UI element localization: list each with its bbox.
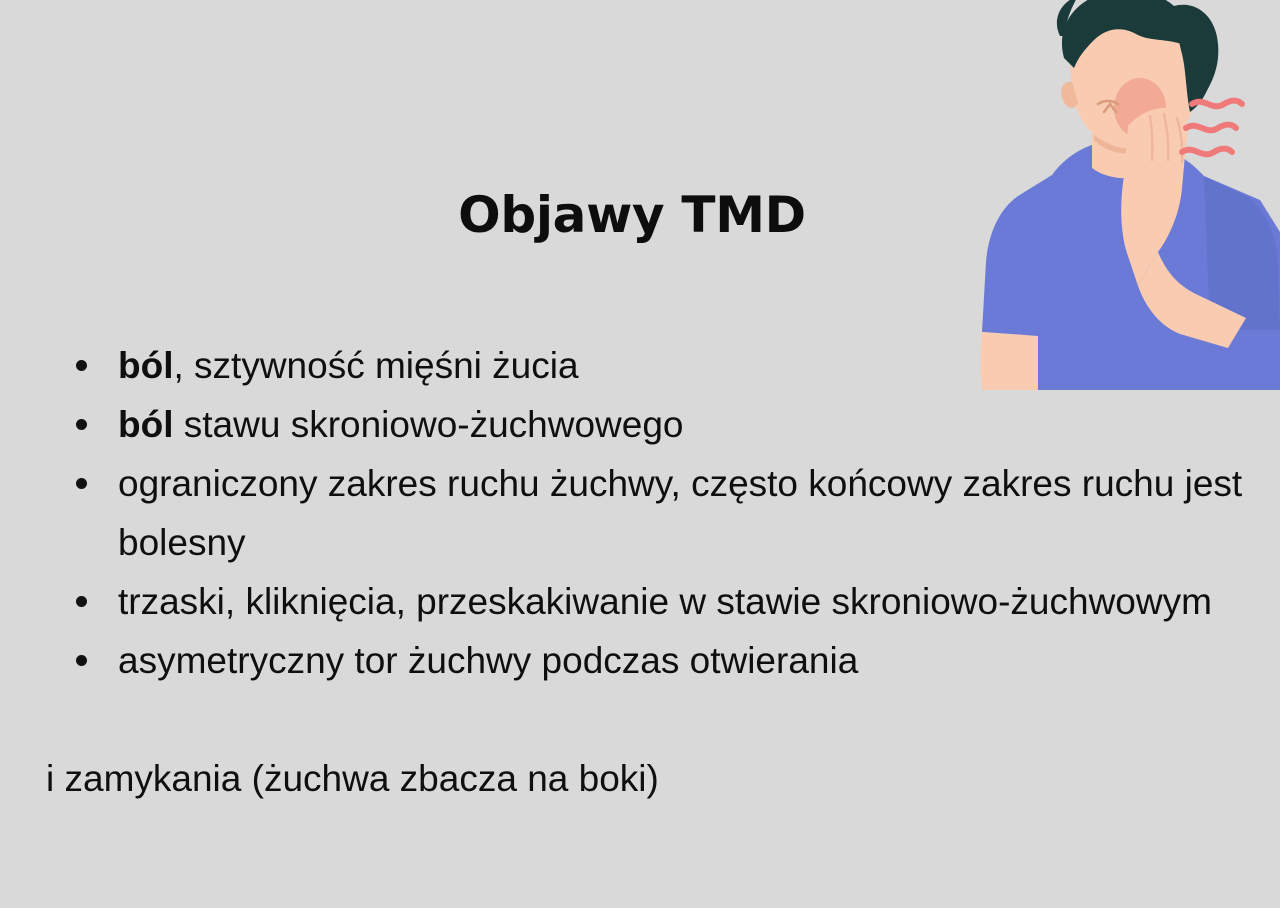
neck-shape <box>1092 112 1160 178</box>
list-item-rest: asymetryczny tor żuchwy podczas otwieran… <box>118 640 858 681</box>
bullet-dot-icon <box>76 360 87 371</box>
list-item-text: trzaski, kliknięcia, przeskakiwanie w st… <box>118 572 1266 631</box>
slide-canvas: Objawy TMD ból, sztywność mięśni żucia b… <box>0 0 1280 908</box>
list-item: ból stawu skroniowo-żuchwowego <box>46 395 1266 454</box>
list-item-rest: trzaski, kliknięcia, przeskakiwanie w st… <box>118 581 1212 622</box>
list-item-text: asymetryczny tor żuchwy podczas otwieran… <box>118 631 1266 690</box>
list-item-rest: , sztywność mięśni żucia <box>173 345 578 386</box>
list-item-text: ograniczony zakres ruchu żuchwy, często … <box>118 454 1266 572</box>
symptom-list: ból, sztywność mięśni żucia ból stawu sk… <box>46 336 1266 690</box>
list-item: asymetryczny tor żuchwy podczas otwieran… <box>46 631 1266 690</box>
bullet-dot-icon <box>76 419 87 430</box>
list-item-rest: stawu skroniowo-żuchwowego <box>173 404 683 445</box>
closed-eye <box>1098 101 1118 112</box>
head-shape <box>1061 0 1200 149</box>
list-item-emphasis: ból <box>118 345 173 386</box>
page-title: Objawy TMD <box>0 186 1264 244</box>
list-item: ból, sztywność mięśni żucia <box>46 336 1266 395</box>
list-item: ograniczony zakres ruchu żuchwy, często … <box>46 454 1266 572</box>
bullet-dot-icon <box>76 655 87 666</box>
pain-squiggle-icon <box>1182 101 1242 155</box>
bullet-dot-icon <box>76 596 87 607</box>
cheek-pain-patch <box>1114 78 1166 138</box>
list-item-emphasis: ból <box>118 404 173 445</box>
list-item-rest: ograniczony zakres ruchu żuchwy, często … <box>118 463 1242 563</box>
bullet-dot-icon <box>76 478 87 489</box>
list-item-text: ból, sztywność mięśni żucia <box>118 336 1266 395</box>
list-item: trzaski, kliknięcia, przeskakiwanie w st… <box>46 572 1266 631</box>
hair-shape <box>1057 0 1218 112</box>
list-item-text: ból stawu skroniowo-żuchwowego <box>118 395 1266 454</box>
list-continuation-line: i zamykania (żuchwa zbacza na boki) <box>46 749 1246 808</box>
